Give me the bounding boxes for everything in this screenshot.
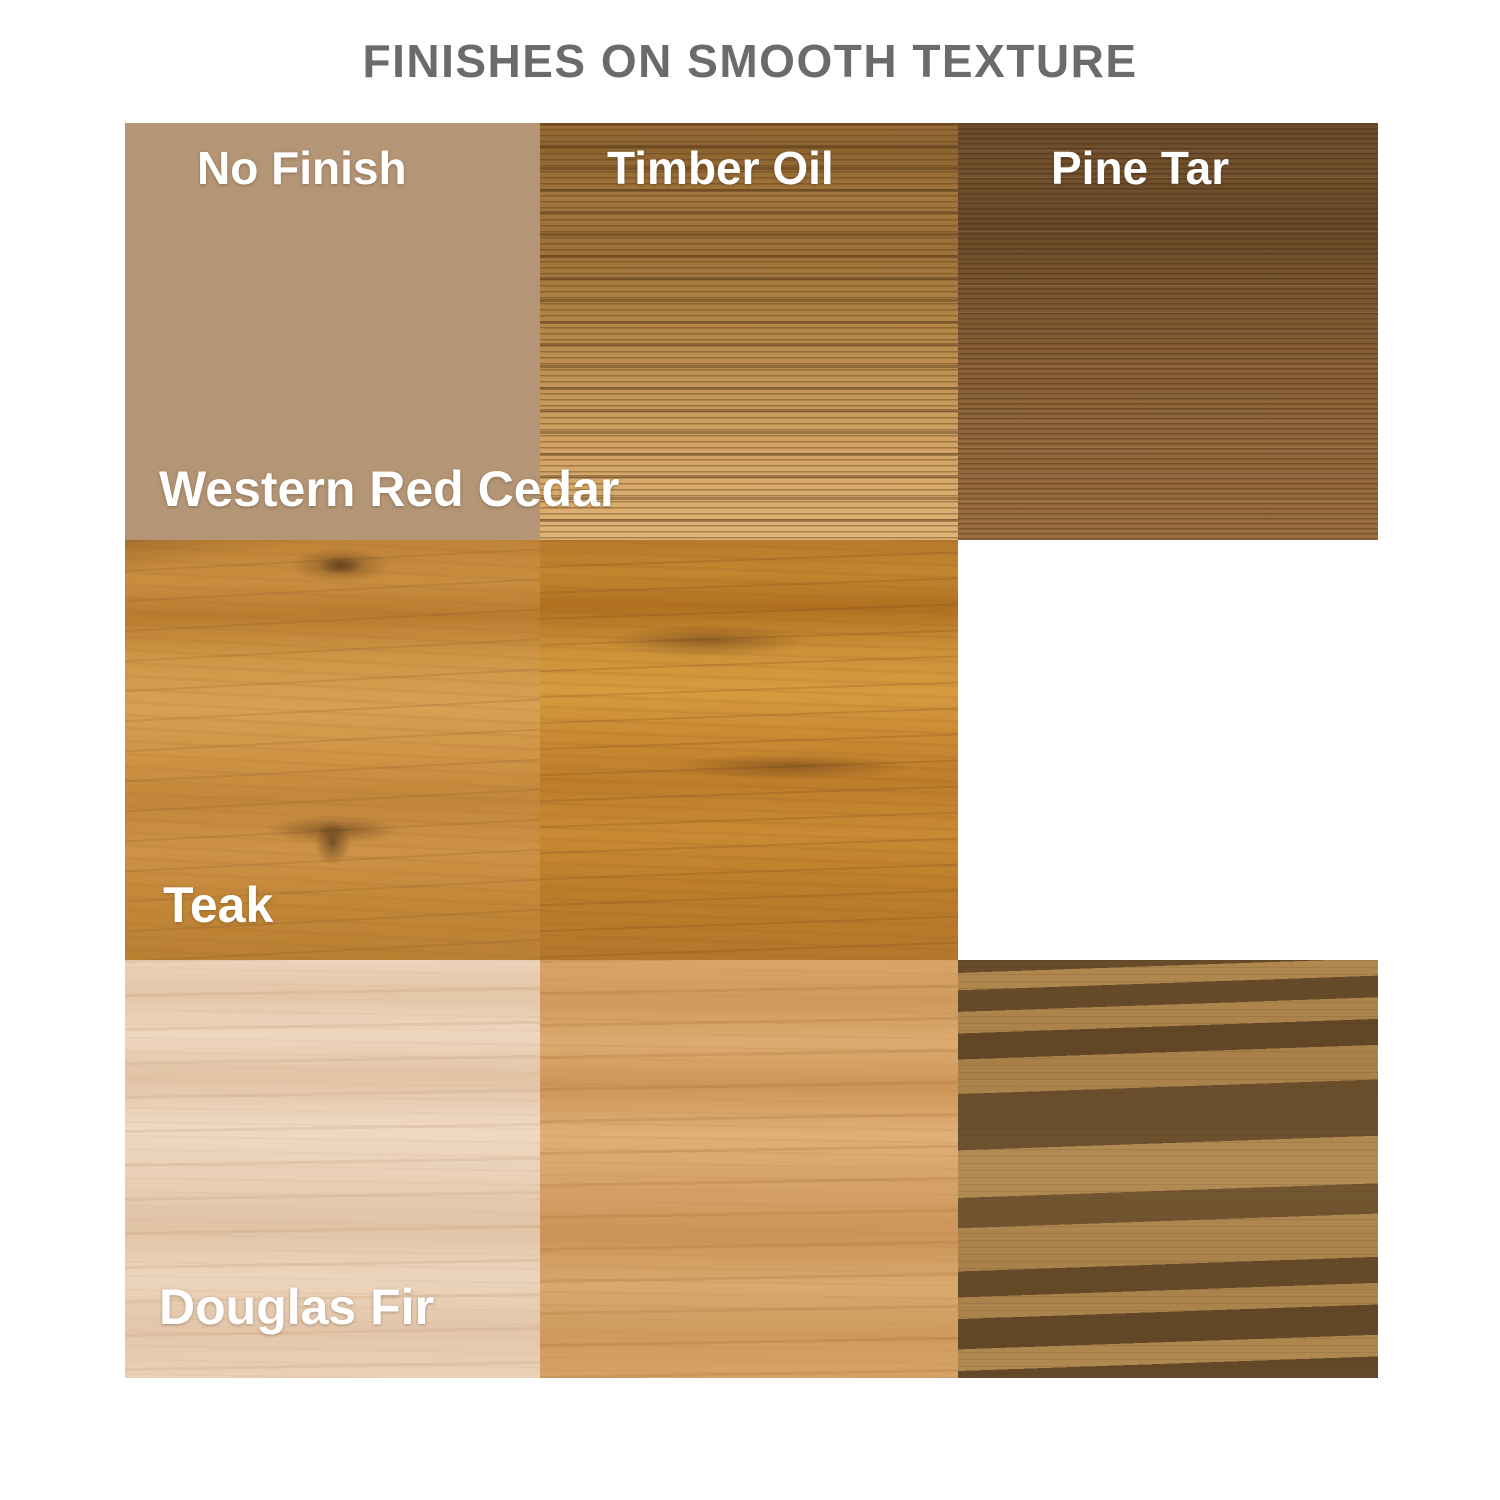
- swatch-teak-timber-oil[interactable]: [540, 540, 958, 960]
- wood-texture: [540, 960, 958, 1378]
- row-label-teak: Teak: [163, 876, 273, 934]
- column-label-no-finish: No Finish: [197, 141, 407, 195]
- swatch-teak-pine-tar-empty: [958, 540, 1378, 960]
- column-label-timber-oil: Timber Oil: [607, 141, 834, 195]
- page-title: FINISHES ON SMOOTH TEXTURE: [0, 34, 1500, 88]
- row-label-douglas-fir: Douglas Fir: [159, 1278, 434, 1336]
- wood-texture: [958, 960, 1378, 1378]
- swatch-douglas-fir-pine-tar[interactable]: [958, 960, 1378, 1378]
- swatch-douglas-fir-timber-oil[interactable]: [540, 960, 958, 1378]
- row-label-western-red-cedar: Western Red Cedar: [159, 460, 619, 518]
- finish-comparison-page: FINISHES ON SMOOTH TEXTURE: [0, 0, 1500, 1500]
- wood-texture: [540, 540, 958, 960]
- column-label-pine-tar: Pine Tar: [1051, 141, 1229, 195]
- finish-matrix: [125, 123, 1378, 1378]
